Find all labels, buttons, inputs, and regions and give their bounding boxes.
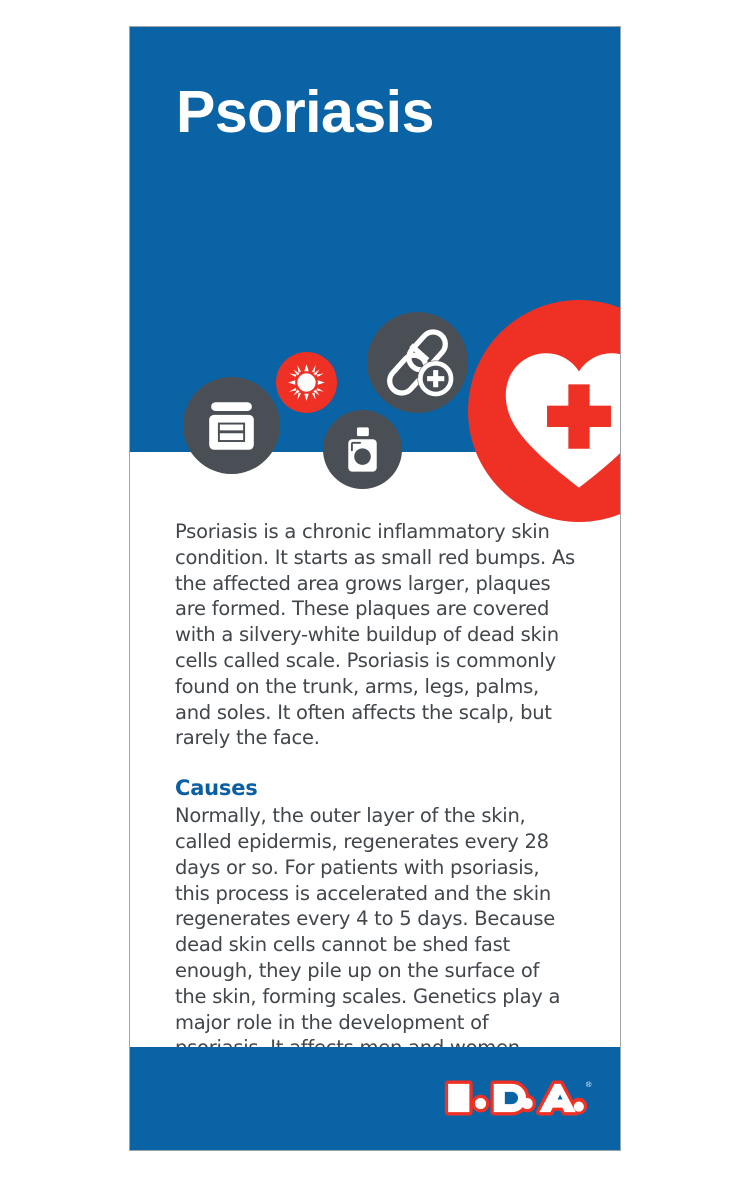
- heart-cross-icon: [468, 300, 620, 522]
- page-root: Psoriasis Psoriasis is a chronic inflamm…: [0, 0, 750, 1200]
- pill-capsule-icon: [367, 312, 468, 413]
- causes-heading: Causes: [175, 774, 575, 803]
- trademark-symbol: ®: [586, 1080, 592, 1089]
- info-card: Psoriasis Psoriasis is a chronic inflamm…: [130, 27, 620, 1150]
- intro-paragraph: Psoriasis is a chronic inflammatory skin…: [175, 519, 575, 751]
- footer-bar: ®: [130, 1047, 620, 1150]
- copy-block: Psoriasis is a chronic inflammatory skin…: [175, 519, 575, 1113]
- lotion-bottle-icon: [323, 410, 402, 489]
- ida-logo[interactable]: ®: [441, 1072, 593, 1124]
- medicine-jar-icon: [183, 377, 280, 474]
- page-title: Psoriasis: [176, 83, 434, 142]
- body-panel: Psoriasis is a chronic inflammatory skin…: [130, 452, 620, 1047]
- sun-icon: [276, 352, 337, 413]
